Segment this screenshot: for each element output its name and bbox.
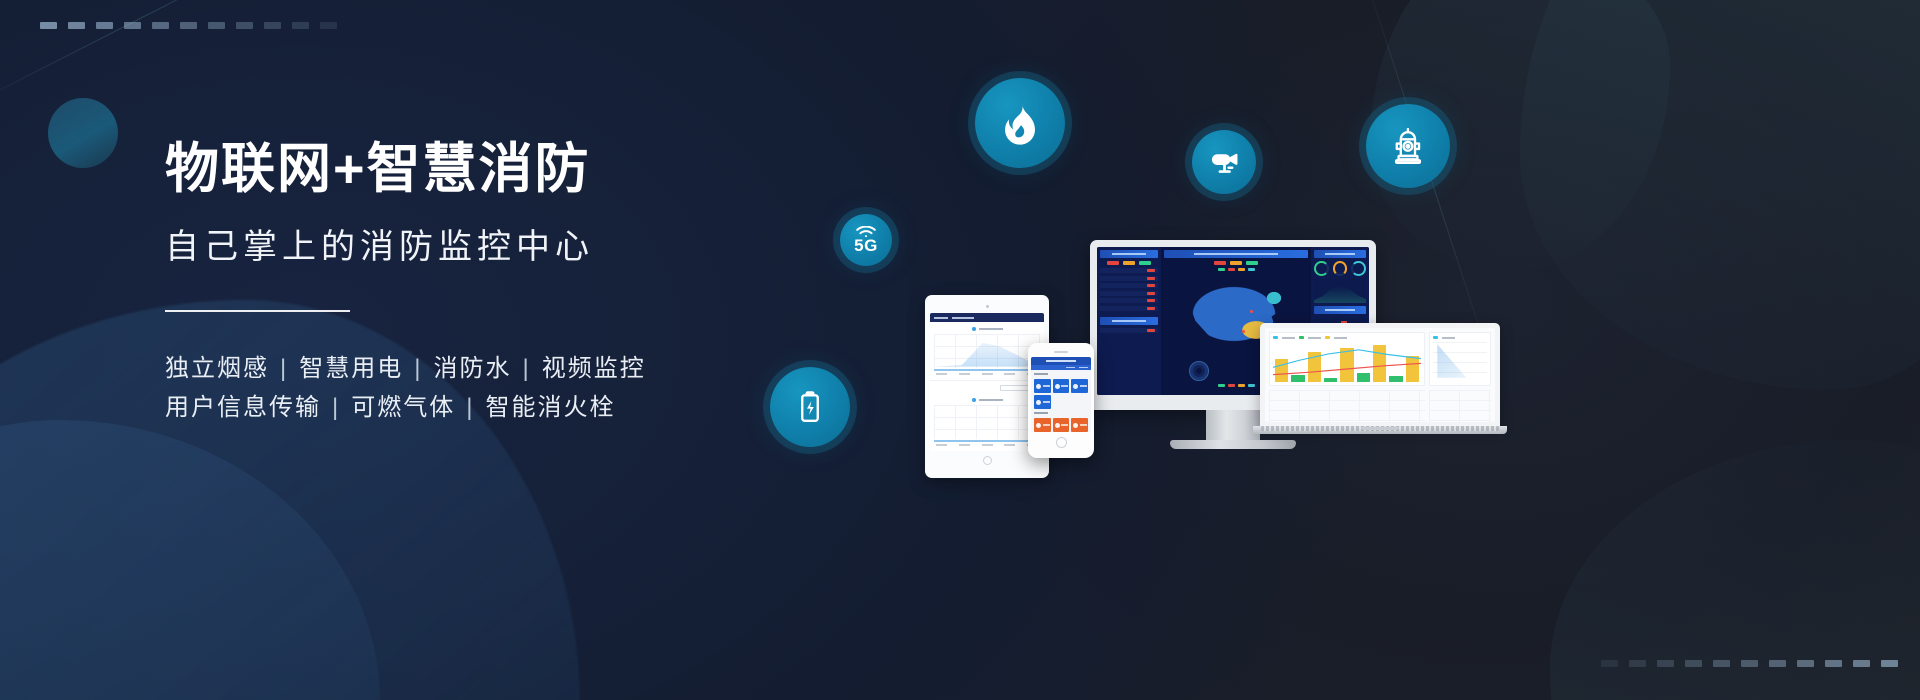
dash-marker-row-top (40, 22, 337, 29)
background-blob-top-right (1520, 0, 1920, 390)
phone-titlebar (1031, 357, 1091, 365)
panel-header (1314, 306, 1366, 314)
panel-header (1164, 250, 1308, 258)
feature-item: 视频监控 (542, 355, 646, 382)
axis-ticks (934, 371, 1040, 375)
dash-marker (40, 22, 57, 29)
tablet-camera (986, 305, 989, 308)
camera-icon (1192, 130, 1256, 194)
phone-screen (1031, 357, 1091, 432)
alarm-row (1100, 306, 1158, 311)
chart-caption (934, 398, 1040, 402)
phone-alert-tile[interactable] (1071, 418, 1088, 432)
hero-divider (165, 310, 350, 312)
dash-marker (208, 22, 225, 29)
hero-banner: 物联网+智慧消防 自己掌上的消防监控中心 独立烟感|智慧用电|消防水|视频监控用… (0, 0, 1920, 700)
gauge-row (1314, 261, 1366, 276)
feature-item: 用户信息传输 (165, 394, 321, 421)
dash-marker (236, 22, 253, 29)
laptop-base (1253, 426, 1507, 434)
gauge (1351, 261, 1366, 276)
laptop-grid-chart (1269, 390, 1425, 422)
feature-separator: | (511, 350, 541, 389)
chart-legend (1433, 336, 1487, 339)
dash-marker (1601, 660, 1618, 667)
phone-tile-grid (1031, 379, 1091, 409)
feature-item: 智慧用电 (299, 355, 403, 382)
alarm-row (1100, 283, 1158, 288)
hero-title: 物联网+智慧消防 (165, 140, 925, 199)
alarm-row (1100, 298, 1158, 303)
phone-home-button[interactable] (1056, 437, 1067, 448)
laptop-lid (1260, 323, 1500, 426)
dash-marker (1741, 660, 1758, 667)
alarm-row (1100, 268, 1158, 273)
dash-marker (1769, 660, 1786, 667)
phone-tile[interactable] (1034, 379, 1051, 393)
tablet-screen (930, 313, 1044, 451)
laptop-keyboard (1261, 426, 1499, 431)
feature-item: 智能消火栓 (485, 394, 615, 421)
monitor-stand-base (1170, 440, 1296, 449)
dash-marker (1713, 660, 1730, 667)
battery-bolt-icon (770, 367, 850, 447)
phone-tile[interactable] (1034, 395, 1051, 409)
decorative-circle (48, 98, 118, 168)
flame-icon (975, 78, 1065, 168)
dash-marker (320, 22, 337, 29)
dash-marker (124, 22, 141, 29)
tablet-navbar (930, 313, 1044, 322)
map-alert-dot (1242, 330, 1245, 333)
laptop-top-row (1269, 332, 1491, 386)
tablet-chart-card (930, 393, 1044, 451)
gauge (1333, 261, 1348, 276)
5g-label: 5G (854, 237, 878, 254)
feature-separator: | (269, 350, 299, 389)
gauge (1314, 261, 1329, 276)
feature-separator: | (455, 389, 485, 428)
device-mockup-cluster (900, 225, 1460, 475)
dash-marker (96, 22, 113, 29)
phone-device (1028, 343, 1094, 458)
phone-speaker (1054, 351, 1068, 353)
status-chips (1100, 261, 1158, 265)
trend-chart (1314, 279, 1366, 303)
dash-marker (68, 22, 85, 29)
tablet-home-button[interactable] (983, 456, 992, 465)
dash-marker (1853, 660, 1870, 667)
diagonal-line-left (0, 0, 332, 121)
map-legend (1164, 268, 1308, 271)
feature-item: 可燃气体 (351, 394, 455, 421)
dash-marker-row-bottom (1601, 660, 1898, 667)
phone-alert-tile[interactable] (1034, 418, 1051, 432)
kpi-row (1164, 261, 1308, 265)
monitor-stand-neck (1206, 410, 1260, 440)
dashboard-left-panel (1097, 247, 1161, 395)
phone-section-label (1034, 412, 1088, 416)
phone-tabbar (1031, 365, 1091, 370)
alarm-row (1100, 291, 1158, 296)
phone-tile[interactable] (1053, 379, 1070, 393)
feature-separator: | (403, 350, 433, 389)
phone-alert-tile[interactable] (1053, 418, 1070, 432)
feature-separator: | (321, 389, 351, 428)
laptop-drop-chart-card (1429, 332, 1491, 386)
dash-marker (1629, 660, 1646, 667)
panel-header (1314, 250, 1366, 258)
laptop-bar-chart-card (1269, 332, 1425, 386)
dash-marker (1685, 660, 1702, 667)
dash-marker (1825, 660, 1842, 667)
dash-marker (1797, 660, 1814, 667)
line-chart (934, 334, 1040, 368)
dash-marker (152, 22, 169, 29)
phone-alert-grid (1031, 418, 1091, 432)
panel-header (1100, 250, 1158, 258)
chart-legend (1273, 336, 1421, 339)
chart-caption (934, 327, 1040, 331)
feature-item: 独立烟感 (165, 355, 269, 382)
dash-marker (180, 22, 197, 29)
tablet-chart-card (930, 322, 1044, 381)
phone-tile[interactable] (1071, 379, 1088, 393)
map-alert-dot (1250, 310, 1253, 313)
feature-item: 消防水 (433, 355, 511, 382)
bar-chart (1273, 342, 1421, 382)
alarm-row (1100, 276, 1158, 281)
area-chart (1433, 342, 1487, 380)
hero-subtitle: 自己掌上的消防监控中心 (165, 219, 925, 268)
dash-marker (1881, 660, 1898, 667)
axis-ticks (934, 442, 1040, 446)
dash-marker (292, 22, 309, 29)
alarm-row (1100, 328, 1158, 333)
dash-marker (1657, 660, 1674, 667)
radar-widget (1189, 361, 1209, 381)
phone-section-label (1034, 373, 1088, 377)
laptop-device (1260, 323, 1500, 434)
laptop-grid-chart-small (1429, 390, 1491, 422)
laptop-bottom-row (1269, 390, 1491, 422)
panel-header (1100, 317, 1158, 325)
laptop-screen (1265, 328, 1495, 422)
background-blob-left-2 (0, 420, 380, 700)
5g-icon: 5G (840, 214, 892, 266)
line-chart (934, 405, 1040, 439)
dash-marker (264, 22, 281, 29)
hydrant-icon (1366, 104, 1450, 188)
